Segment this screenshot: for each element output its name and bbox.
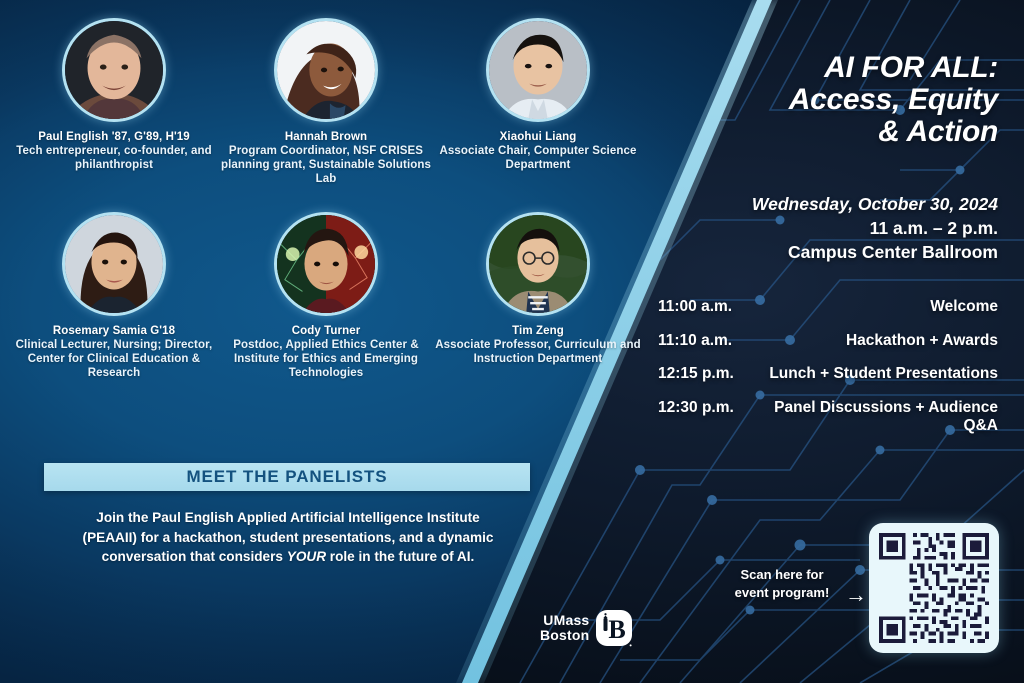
event-datetime-location: Wednesday, October 30, 2024 11 a.m. – 2 … <box>668 192 998 264</box>
meet-the-panelists-banner: MEET THE PANELISTS <box>44 463 530 491</box>
panelist-card-cody-turner: Cody Turner Postdoc, Applied Ethics Cent… <box>220 212 432 380</box>
panelist-card-paul-english: Paul English '87, G'89, H'19 Tech entrep… <box>8 18 220 186</box>
blurb-emphasis: YOUR <box>287 549 326 564</box>
qr-code-image <box>879 533 989 643</box>
avatar-wrap <box>220 212 432 316</box>
logo-line-1: UMass <box>540 613 589 628</box>
schedule-label: Panel Discussions + Audience Q&A <box>734 399 998 436</box>
event-time: 11 a.m. – 2 p.m. <box>668 216 998 240</box>
schedule-label: Lunch + Student Presentations <box>734 365 998 384</box>
avatar-wrap <box>220 18 432 122</box>
panelist-card-rosemary-samia: Rosemary Samia G'18 Clinical Lecturer, N… <box>8 212 220 380</box>
panelist-card-hannah-brown: Hannah Brown Program Coordinator, NSF CR… <box>220 18 432 186</box>
schedule-row: 11:10 a.m. Hackathon + Awards <box>658 332 998 351</box>
portrait-rosemary-samia <box>62 212 166 316</box>
panelist-title: Tech entrepreneur, co-founder, and phila… <box>8 144 220 172</box>
event-poster: Paul English '87, G'89, H'19 Tech entrep… <box>0 0 1024 683</box>
logo-line-2: Boston <box>540 628 589 643</box>
avatar-wrap <box>432 212 644 316</box>
schedule-time: 12:30 p.m. <box>658 399 734 418</box>
schedule-row: 11:00 a.m. Welcome <box>658 298 998 317</box>
umass-boston-logo: UMass Boston B <box>540 608 633 648</box>
portrait-hannah-brown <box>274 18 378 122</box>
panelist-name: Rosemary Samia G'18 <box>8 324 220 338</box>
panelists-row-2: Rosemary Samia G'18 Clinical Lecturer, N… <box>0 212 660 380</box>
schedule-time: 11:00 a.m. <box>658 298 732 317</box>
arrow-right-icon: → <box>845 584 867 606</box>
scan-instruction: Scan here for event program! <box>722 566 842 601</box>
panelist-title: Associate Professor, Curriculum and Inst… <box>432 338 644 366</box>
panelist-name: Hannah Brown <box>220 130 432 144</box>
panelists-grid: Paul English '87, G'89, H'19 Tech entrep… <box>0 18 660 380</box>
title-line-3: & Action <box>668 116 998 148</box>
poster-title: AI FOR ALL: Access, Equity & Action <box>668 52 998 147</box>
avatar-wrap <box>8 212 220 316</box>
panelist-card-xiaohui-liang: Xiaohui Liang Associate Chair, Computer … <box>432 18 644 186</box>
portrait-cody-turner <box>274 212 378 316</box>
panelist-name: Paul English '87, G'89, H'19 <box>8 130 220 144</box>
panelist-title: Associate Chair, Computer Science Depart… <box>432 144 644 172</box>
svg-text:B: B <box>609 615 626 644</box>
panelist-card-tim-zeng: Tim Zeng Associate Professor, Curriculum… <box>432 212 644 380</box>
schedule-label: Welcome <box>732 298 998 317</box>
umass-b-mark-icon: B <box>595 608 633 648</box>
qr-code[interactable] <box>869 523 999 653</box>
panelist-name: Xiaohui Liang <box>432 130 644 144</box>
schedule-row: 12:15 p.m. Lunch + Student Presentations <box>658 365 998 384</box>
schedule-row: 12:30 p.m. Panel Discussions + Audience … <box>658 399 998 436</box>
schedule-time: 12:15 p.m. <box>658 365 734 384</box>
schedule-label: Hackathon + Awards <box>732 332 998 351</box>
title-line-2: Access, Equity <box>668 84 998 116</box>
avatar-wrap <box>432 18 644 122</box>
logo-wordmark: UMass Boston <box>540 613 589 642</box>
panelist-name: Tim Zeng <box>432 324 644 338</box>
portrait-paul-english <box>62 18 166 122</box>
panelist-title: Program Coordinator, NSF CRISES planning… <box>220 144 432 186</box>
panelists-row-1: Paul English '87, G'89, H'19 Tech entrep… <box>0 18 660 186</box>
portrait-tim-zeng <box>486 212 590 316</box>
title-line-1: AI FOR ALL: <box>668 52 998 84</box>
event-schedule: 11:00 a.m. Welcome 11:10 a.m. Hackathon … <box>658 298 998 451</box>
banner-label: MEET THE PANELISTS <box>186 467 387 487</box>
panelist-name: Cody Turner <box>220 324 432 338</box>
panelist-title: Postdoc, Applied Ethics Center & Institu… <box>220 338 432 380</box>
event-date: Wednesday, October 30, 2024 <box>668 192 998 216</box>
event-description: Join the Paul English Applied Artificial… <box>70 508 506 567</box>
schedule-time: 11:10 a.m. <box>658 332 732 351</box>
portrait-xiaohui-liang <box>486 18 590 122</box>
event-location: Campus Center Ballroom <box>668 240 998 264</box>
avatar-wrap <box>8 18 220 122</box>
panelist-title: Clinical Lecturer, Nursing; Director, Ce… <box>8 338 220 380</box>
blurb-post: role in the future of AI. <box>326 549 474 564</box>
